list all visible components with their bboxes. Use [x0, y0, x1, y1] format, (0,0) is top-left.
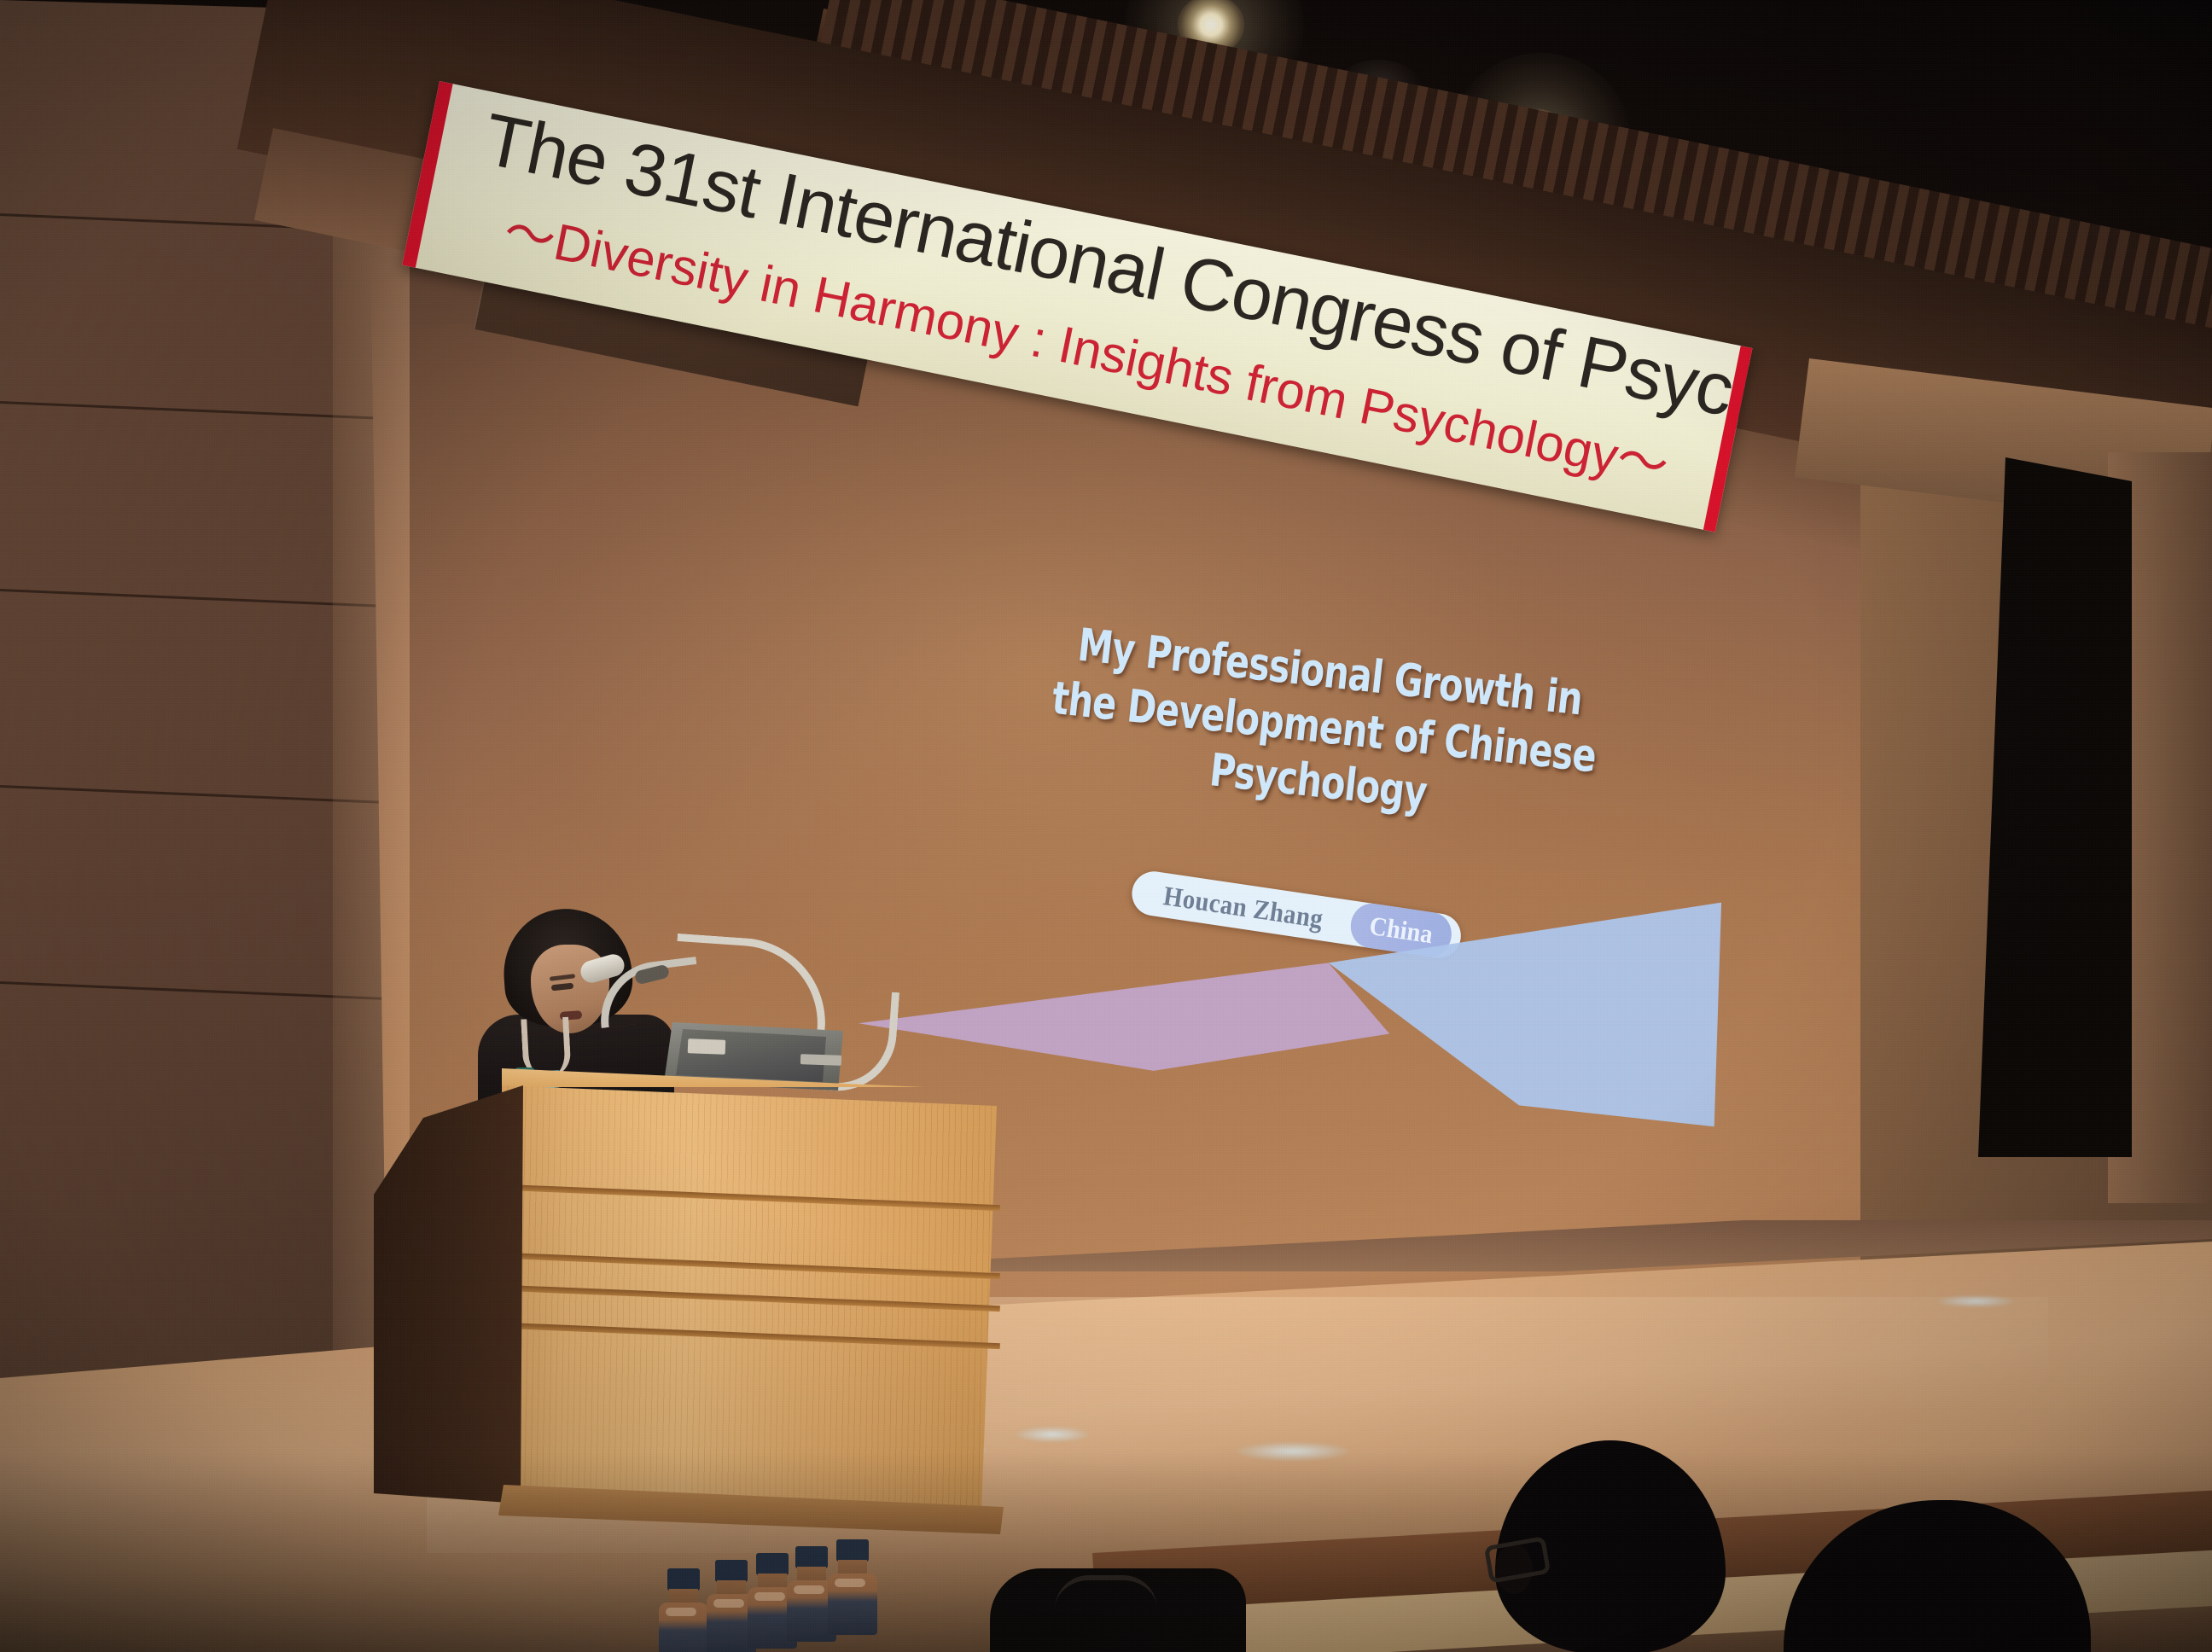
- laptop-port-strip: [800, 1054, 841, 1066]
- bottle-cap: [667, 1568, 700, 1591]
- floor-reflection: [1016, 1427, 1089, 1442]
- bottle-cap: [756, 1553, 789, 1575]
- photo-canvas: The 31st International Congress of Psych…: [0, 0, 2212, 1652]
- floor-reflection: [1237, 1442, 1348, 1461]
- bottle-highlight: [835, 1579, 865, 1587]
- water-bottle-row: [657, 1553, 998, 1652]
- bottle-highlight: [666, 1608, 696, 1616]
- bottle-highlight: [794, 1585, 824, 1594]
- bottle-cap: [836, 1539, 869, 1562]
- water-bottle: [657, 1568, 710, 1652]
- blue-triangle-shape: [1315, 861, 1738, 1126]
- bag-strap: [1055, 1575, 1157, 1609]
- water-bottle: [826, 1539, 879, 1633]
- lectern: [374, 1067, 997, 1527]
- bottle-cap: [715, 1560, 748, 1582]
- lectern-side-panel: [374, 1067, 523, 1519]
- laptop-label: [688, 1038, 726, 1055]
- bottle-cap: [795, 1546, 828, 1568]
- bottle-highlight: [713, 1599, 744, 1608]
- floor-reflection: [1937, 1295, 2014, 1307]
- bottle-highlight: [754, 1592, 785, 1601]
